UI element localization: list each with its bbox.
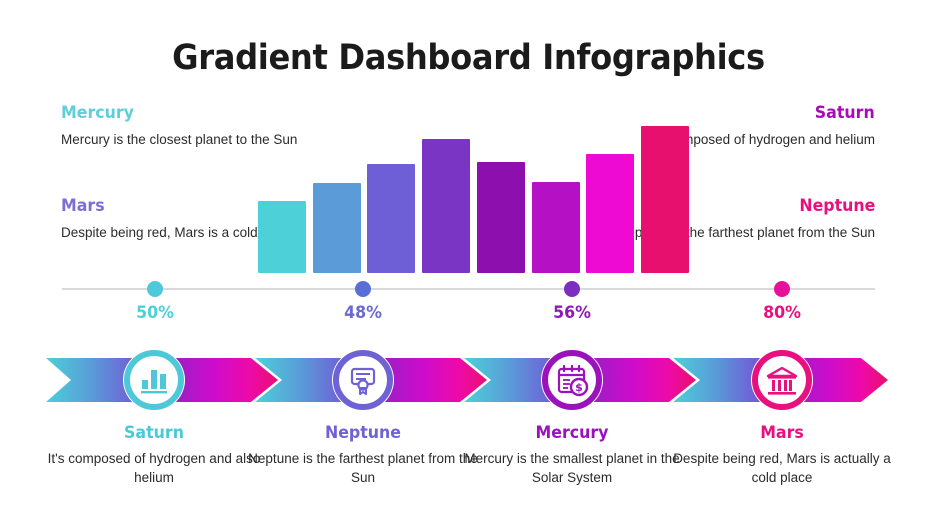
- timeline-caption-mercury: Mercury Mercury is the smallest planet i…: [457, 423, 687, 487]
- progress-marker-label-2: 56%: [516, 303, 628, 323]
- calendar-money-icon: $: [541, 349, 603, 411]
- timeline-caption-mars-heading: Mars: [675, 423, 889, 443]
- bar-6: [532, 182, 580, 273]
- side-block-mars-heading: Mars: [61, 196, 277, 216]
- bar-1: [258, 201, 306, 273]
- timeline-caption-saturn-heading: Saturn: [47, 423, 261, 443]
- timeline-caption-mars-body: Despite being red, Mars is actually a co…: [667, 449, 897, 487]
- page-title: Gradient Dashboard Infographics: [37, 38, 899, 78]
- bar-5: [477, 162, 525, 273]
- timeline-caption-neptune-heading: Neptune: [256, 423, 470, 443]
- svg-text:$: $: [575, 381, 583, 394]
- timeline-caption-neptune: Neptune Neptune is the farthest planet f…: [248, 423, 478, 487]
- timeline-node-saturn[interactable]: [123, 349, 185, 411]
- timeline-caption-mercury-heading: Mercury: [465, 423, 679, 443]
- progress-marker-dot-1[interactable]: [355, 281, 371, 297]
- certificate-icon: [332, 349, 394, 411]
- bar-7: [586, 154, 634, 273]
- progress-marker-dot-2[interactable]: [564, 281, 580, 297]
- progress-marker-dot-3[interactable]: [774, 281, 790, 297]
- bank-icon: [751, 349, 813, 411]
- timeline-node-mercury[interactable]: $: [541, 349, 603, 411]
- timeline-caption-mercury-body: Mercury is the smallest planet in the So…: [457, 449, 687, 487]
- progress-marker-label-0: 50%: [99, 303, 211, 323]
- side-block-saturn-heading: Saturn: [663, 103, 875, 123]
- bar-8: [641, 126, 689, 273]
- progress-marker-label-1: 48%: [307, 303, 419, 323]
- timeline-caption-saturn: Saturn It's composed of hydrogen and als…: [39, 423, 269, 487]
- timeline-caption-saturn-body: It's composed of hydrogen and also heliu…: [39, 449, 269, 487]
- bar-chart: [258, 110, 683, 273]
- bar-2: [313, 183, 361, 273]
- progress-marker-label-3: 80%: [726, 303, 838, 323]
- infographic-slide: Gradient Dashboard Infographics Mercury …: [0, 0, 937, 527]
- timeline-caption-neptune-body: Neptune is the farthest planet from the …: [248, 449, 478, 487]
- side-block-mercury-heading: Mercury: [61, 103, 281, 123]
- timeline-caption-mars: Mars Despite being red, Mars is actually…: [667, 423, 897, 487]
- timeline-node-neptune[interactable]: [332, 349, 394, 411]
- progress-marker-dot-0[interactable]: [147, 281, 163, 297]
- bar-3: [367, 164, 415, 273]
- timeline-node-mars[interactable]: [751, 349, 813, 411]
- progress-track: 50%48%56%80%: [62, 288, 875, 290]
- bar-chart-icon: [123, 349, 185, 411]
- bar-4: [422, 139, 470, 273]
